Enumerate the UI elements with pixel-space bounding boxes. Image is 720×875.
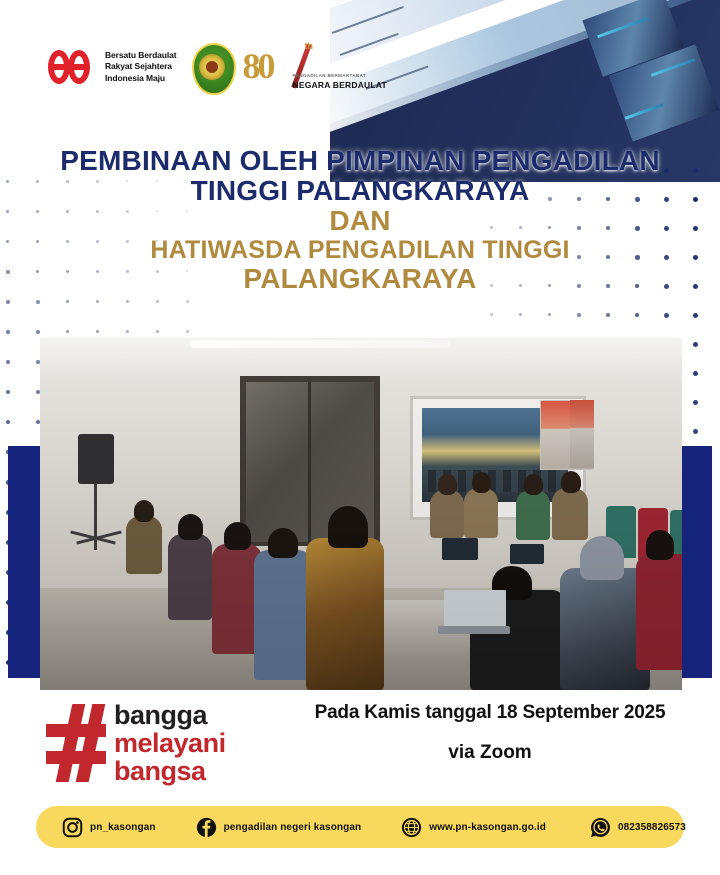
- logo-80-line-3: Indonesia Maju: [105, 73, 177, 84]
- contact-whatsapp[interactable]: 082358826573: [590, 806, 686, 848]
- title-line-4: HATIWASDA PENGADILAN TINGGI: [0, 237, 720, 264]
- logo-80-line-2: Rakyat Sejahtera: [105, 61, 177, 72]
- navy-accent-bar-left: [8, 446, 44, 678]
- poster-canvas: Bersatu Berdaulat Rakyat Sejahtera Indon…: [0, 0, 720, 875]
- tagline-line-2: melayani: [114, 730, 226, 757]
- logo-80-indonesia: Bersatu Berdaulat Rakyat Sejahtera Indon…: [48, 50, 177, 84]
- logo-80-pengadilan: 80 th PENGADILAN BERMARTABAT NEGARA BERD…: [243, 41, 363, 93]
- contact-footer-bar: pn_kasongan pengadilan negeri kasongan w…: [36, 806, 684, 848]
- hashtag-icon: [46, 704, 108, 782]
- gold-eighty-numeral: 80: [243, 45, 273, 87]
- gold-subtitle-large: NEGARA BERDAULAT: [293, 80, 387, 90]
- event-platform-line: via Zoom: [280, 742, 700, 764]
- instagram-icon: [62, 817, 83, 838]
- contact-instagram-label: pn_kasongan: [90, 822, 156, 833]
- contact-facebook-label: pengadilan negeri kasongan: [224, 822, 362, 833]
- title-line-5: PALANGKARAYA: [0, 264, 720, 294]
- whatsapp-icon: [590, 817, 611, 838]
- event-date-block: Pada Kamis tanggal 18 September 2025 via…: [280, 702, 700, 764]
- globe-icon: [401, 817, 422, 838]
- contact-website-label: www.pn-kasongan.go.id: [429, 822, 546, 833]
- contact-instagram[interactable]: pn_kasongan: [62, 806, 156, 848]
- contact-facebook[interactable]: pengadilan negeri kasongan: [196, 806, 362, 848]
- facebook-icon: [196, 817, 217, 838]
- title-line-2: TINGGI PALANGKARAYA: [0, 176, 720, 206]
- contact-phone-label: 082358826573: [618, 822, 686, 833]
- bangga-melayani-bangsa-logo: bangga melayani bangsa: [46, 700, 256, 786]
- poster-title-block: PEMBINAAN OLEH PIMPINAN PENGADILAN TINGG…: [0, 146, 720, 294]
- tagline-line-3: bangsa: [114, 758, 206, 785]
- event-date-line: Pada Kamis tanggal 18 September 2025: [280, 702, 700, 724]
- contact-website[interactable]: www.pn-kasongan.go.id: [401, 806, 546, 848]
- gold-superscript: th: [305, 41, 314, 51]
- meeting-photo: [40, 338, 682, 690]
- court-crest-icon: [189, 41, 235, 93]
- title-line-3: DAN: [0, 206, 720, 236]
- header-logo-row: Bersatu Berdaulat Rakyat Sejahtera Indon…: [48, 36, 363, 98]
- title-line-1: PEMBINAAN OLEH PIMPINAN PENGADILAN: [0, 146, 720, 176]
- logo-80-indonesia-text: Bersatu Berdaulat Rakyat Sejahtera Indon…: [105, 50, 177, 84]
- tagline-line-1: bangga: [114, 702, 207, 729]
- gold-subtitle-small: PENGADILAN BERMARTABAT: [293, 73, 366, 78]
- logo-80-line-1: Bersatu Berdaulat: [105, 50, 177, 61]
- eighty-numeral-icon: [48, 50, 98, 84]
